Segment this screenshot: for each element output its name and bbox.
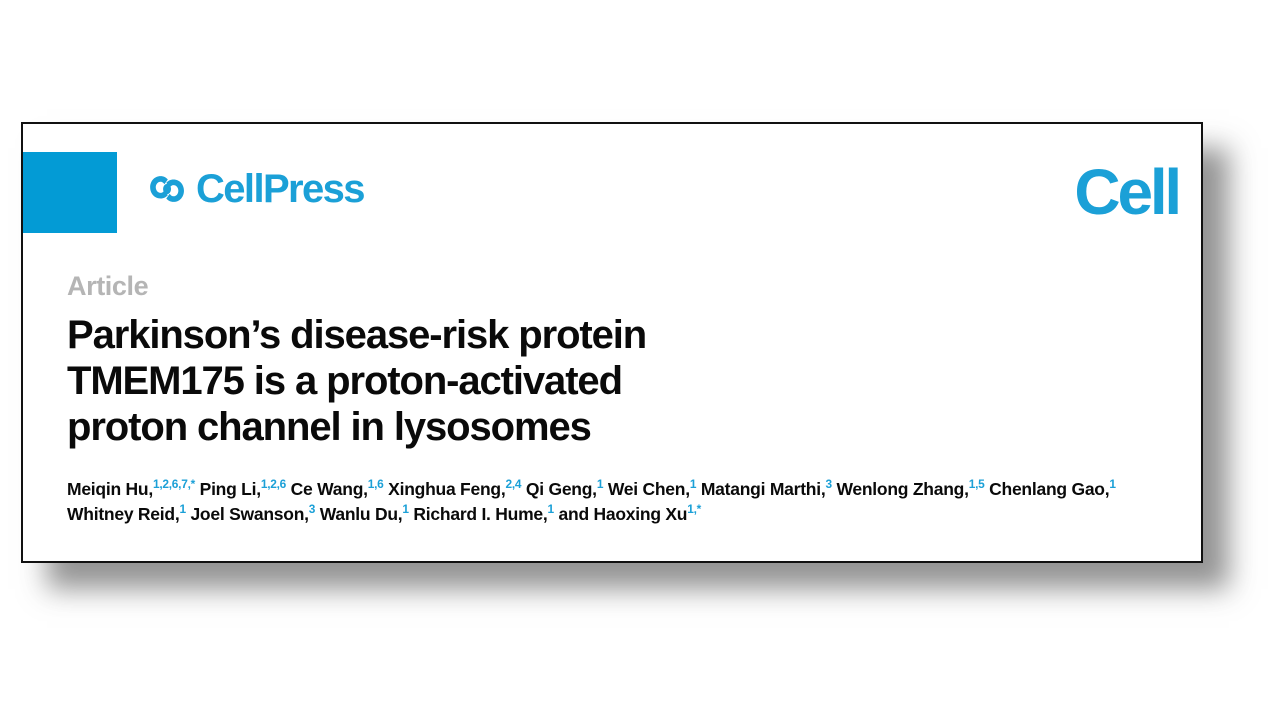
article-title-line: proton channel in lysosomes [67, 404, 827, 450]
author-affiliation-marks: 1 [597, 477, 603, 491]
article-title-line: Parkinson’s disease-risk protein [67, 312, 827, 358]
page-canvas: CellPress Cell Article Parkinson’s disea… [0, 0, 1280, 720]
author-name: Richard I. Hume, [413, 504, 547, 524]
author-entry: Wenlong Zhang,1,5 [836, 479, 984, 499]
article-title-line: TMEM175 is a proton-activated [67, 358, 827, 404]
author-affiliation-marks: 1,5 [969, 477, 985, 491]
author-entry: Whitney Reid,1 [67, 504, 186, 524]
author-affiliation-marks: 3 [309, 502, 315, 516]
author-affiliation-marks: 1,2,6,7,* [153, 477, 195, 491]
author-affiliation-marks: 1,6 [368, 477, 384, 491]
author-name: Wei Chen, [608, 479, 690, 499]
cellpress-logo-lockup[interactable]: CellPress [149, 166, 364, 212]
article-header-card: CellPress Cell Article Parkinson’s disea… [21, 122, 1203, 563]
author-affiliation-marks: 2,4 [505, 477, 521, 491]
author-entry: Matangi Marthi,3 [701, 479, 832, 499]
author-entry: Xinghua Feng,2,4 [388, 479, 521, 499]
author-affiliation-marks: 1 [402, 502, 408, 516]
author-entry: Wanlu Du,1 [320, 504, 409, 524]
author-list: Meiqin Hu,1,2,6,7,* Ping Li,1,2,6 Ce Wan… [67, 477, 1157, 527]
author-entry: Ping Li,1,2,6 [200, 479, 286, 499]
author-entry: Ce Wang,1,6 [291, 479, 384, 499]
author-name: Ping Li, [200, 479, 261, 499]
author-name: Qi Geng, [526, 479, 597, 499]
author-name: Wanlu Du, [320, 504, 403, 524]
author-affiliation-marks: 1,2,6 [261, 477, 286, 491]
author-affiliation-marks: 1 [548, 502, 554, 516]
author-affiliation-marks: 3 [825, 477, 831, 491]
card-body: Article Parkinson’s disease-risk protein… [23, 272, 1201, 527]
author-affiliation-marks: 1 [1109, 477, 1115, 491]
author-name: Ce Wang, [291, 479, 368, 499]
author-name: Joel Swanson, [190, 504, 308, 524]
author-entry: Qi Geng,1 [526, 479, 603, 499]
author-affiliation-marks: 1 [179, 502, 185, 516]
cellpress-wordmark: CellPress [196, 169, 364, 209]
author-entry: Chenlang Gao,1 [989, 479, 1116, 499]
author-name: Meiqin Hu, [67, 479, 153, 499]
cellpress-infinity-mark-icon [149, 170, 187, 208]
author-name: Chenlang Gao, [989, 479, 1109, 499]
card-header: CellPress Cell [23, 124, 1201, 244]
article-title: Parkinson’s disease-risk protein TMEM175… [67, 312, 827, 451]
author-name: Wenlong Zhang, [836, 479, 968, 499]
author-affiliation-marks: 1 [690, 477, 696, 491]
author-name: Whitney Reid, [67, 504, 179, 524]
author-name: Xinghua Feng, [388, 479, 505, 499]
author-entry: and Haoxing Xu1,* [559, 504, 702, 524]
author-name: and Haoxing Xu [559, 504, 688, 524]
author-affiliation-marks: 1,* [687, 502, 701, 516]
author-entry: Meiqin Hu,1,2,6,7,* [67, 479, 195, 499]
author-entry: Joel Swanson,3 [190, 504, 315, 524]
cell-journal-logo[interactable]: Cell [1074, 160, 1179, 224]
author-entry: Wei Chen,1 [608, 479, 696, 499]
author-entry: Richard I. Hume,1 [413, 504, 553, 524]
brand-color-swatch [23, 152, 117, 233]
article-type-kicker: Article [67, 272, 1157, 302]
author-name: Matangi Marthi, [701, 479, 826, 499]
